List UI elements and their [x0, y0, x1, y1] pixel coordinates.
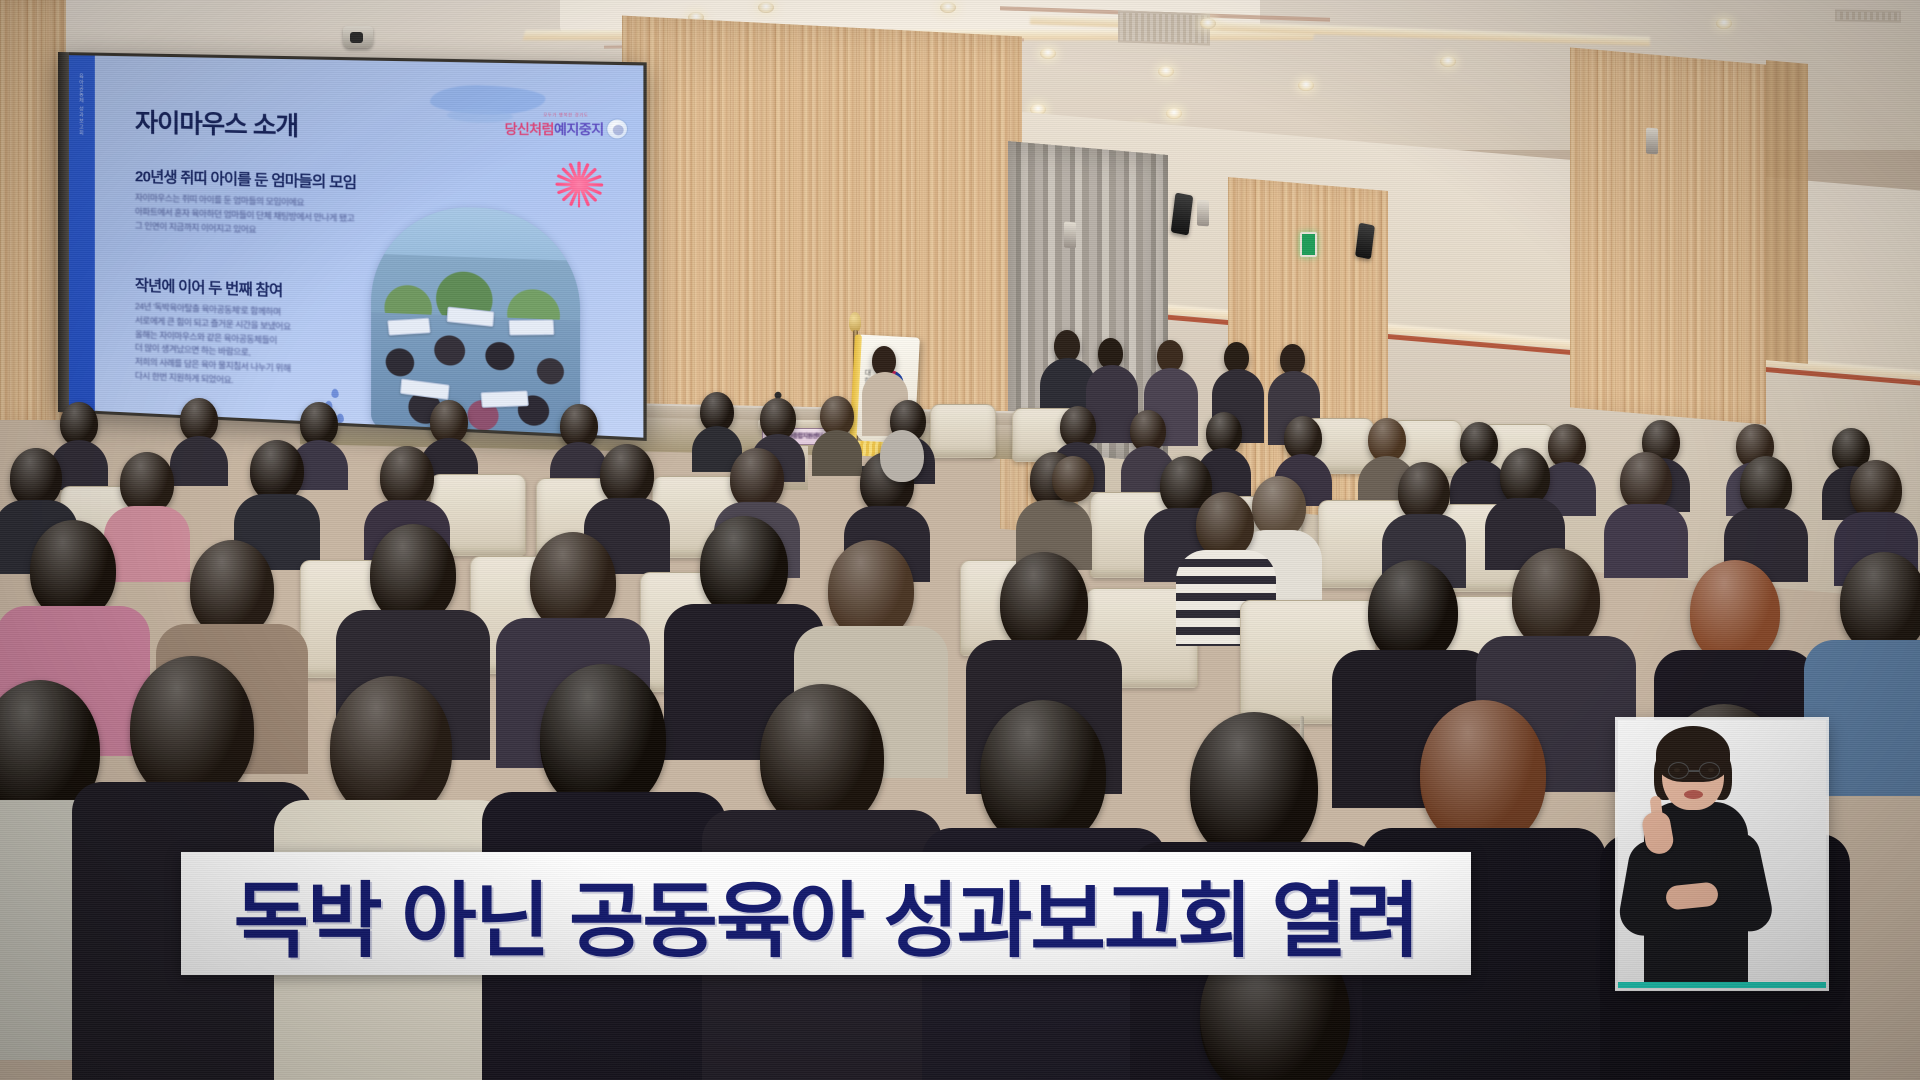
wall-sconce	[1646, 128, 1658, 155]
downlight	[1298, 80, 1314, 91]
slide-sidebar-text: 육아공동체 성과보고회	[78, 55, 85, 136]
slide-body-2: 24년 '독박육아탈출 육아공동체'로 함께하며 서로에게 큰 힘이 되고 즐거…	[135, 300, 291, 390]
downlight	[1716, 18, 1732, 29]
slide-photo	[371, 204, 580, 437]
ceiling-vent	[1118, 10, 1210, 45]
downlight	[1040, 48, 1056, 59]
slide-logo-purple: 예지중지	[554, 122, 604, 138]
wall-wood-panel	[1570, 47, 1766, 424]
sign-language-accent-bar	[1618, 982, 1826, 988]
sign-language-interpreter-inset	[1618, 720, 1826, 988]
exit-sign-icon	[1300, 232, 1317, 257]
stage-back-wood-left	[0, 0, 66, 420]
ceiling-vent-right	[1835, 9, 1901, 22]
downlight	[758, 2, 774, 13]
slide-heading-2: 작년에 이어 두 번째 참여	[135, 274, 283, 301]
presentation-slide: 육아공동체 성과보고회 모두가 행복한 경기도 당신처럼예지중지 자이마우스 소…	[69, 55, 643, 437]
downlight	[1158, 66, 1174, 77]
slide-logo-pink: 당신처럼	[505, 121, 554, 137]
broadcast-frame: 육아공동체 성과보고회 모두가 행복한 경기도 당신처럼예지중지 자이마우스 소…	[0, 0, 1920, 1080]
wall-sconce	[1197, 200, 1209, 227]
downlight	[1200, 18, 1216, 29]
downlight	[1166, 108, 1182, 119]
slide-sidebar: 육아공동체 성과보고회	[69, 55, 95, 411]
stage-back-wood	[622, 16, 1022, 437]
interpreter-mouth	[1684, 790, 1703, 799]
screen-bezel	[58, 52, 69, 413]
wall-wood-column	[1766, 60, 1808, 364]
slide-firework-decor	[554, 160, 604, 209]
news-headline-banner: 독박 아닌 공동육아 성과보고회 열려	[181, 852, 1471, 975]
news-headline-text: 독박 아닌 공동육아 성과보고회 열려	[181, 852, 1471, 975]
slide-brush-decor-small	[447, 108, 513, 123]
downlight	[1440, 56, 1456, 67]
slide-photo-placard	[509, 319, 555, 335]
interpreter-eye	[1674, 768, 1680, 772]
interpreter-eye	[1708, 768, 1714, 772]
slide-photo-placard	[480, 390, 528, 407]
slide-logo: 모두가 행복한 경기도 당신처럼예지중지	[505, 112, 628, 140]
wall-sconce	[1064, 222, 1076, 249]
slide-logo-main: 당신처럼예지중지	[505, 118, 604, 138]
slide-title: 자이마우스 소개	[135, 103, 298, 143]
slide-heading-1: 20년생 쥐띠 아이를 둔 엄마들의 모임	[135, 165, 357, 193]
slide-photo-placard	[387, 318, 431, 336]
slide-logo-mark-icon	[606, 119, 628, 140]
security-camera-icon	[343, 26, 373, 48]
projection-screen: 육아공동체 성과보고회 모두가 행복한 경기도 당신처럼예지중지 자이마우스 소…	[58, 52, 647, 441]
flag-finial	[849, 312, 861, 332]
slide-body-1: 자이마우스는 쥐띠 아이를 둔 엄마들의 모임이에요 아파트에서 혼자 육아하던…	[135, 191, 354, 240]
downlight	[940, 2, 956, 13]
